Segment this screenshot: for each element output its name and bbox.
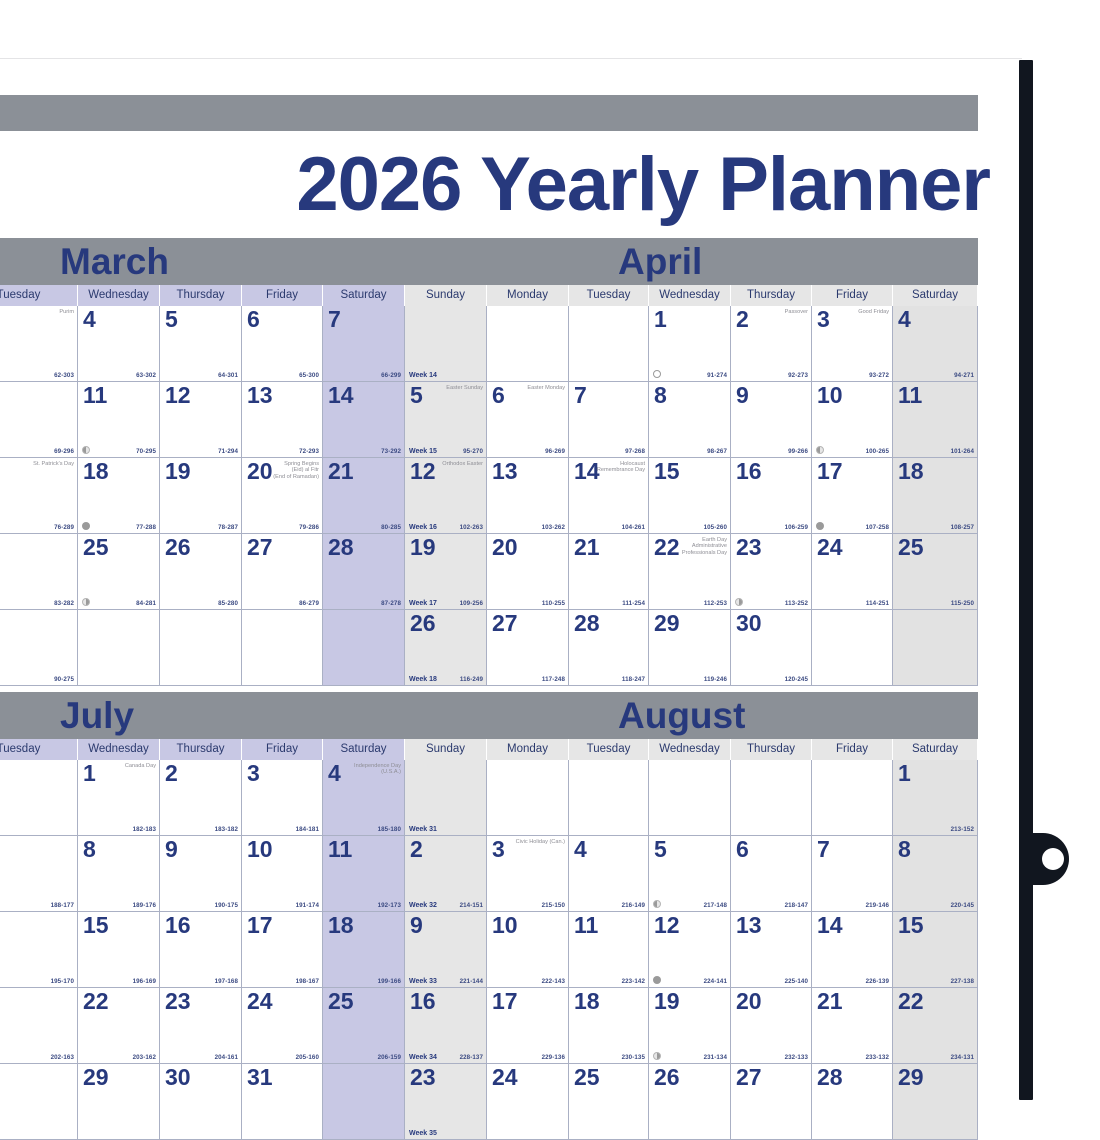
day-of-year-code: 80-285 (381, 524, 401, 531)
day-number: 6 (247, 307, 260, 332)
day-cell[interactable]: 13103-262 (487, 458, 569, 534)
week-number-label: Week 31 (409, 826, 437, 833)
weekday-header-monday: Monday (487, 739, 569, 760)
day-number: 6 (736, 837, 749, 862)
weekday-header-saturday: Saturday (323, 739, 405, 760)
day-cell[interactable]: 29 (78, 1064, 160, 1140)
day-of-year-code: 188-177 (51, 902, 74, 909)
day-number: 20 (736, 989, 762, 1014)
day-number: 23 (410, 1065, 436, 1090)
day-of-year-code: 219-146 (866, 902, 889, 909)
day-cell[interactable]: 23204-161 (160, 988, 242, 1064)
day-cell[interactable]: 898-267 (649, 382, 731, 458)
day-cell[interactable]: 2Passover92-273 (731, 306, 812, 382)
day-cell[interactable]: 1978-287 (160, 458, 242, 534)
day-cell[interactable]: 10100-265 (812, 382, 893, 458)
day-cell[interactable]: 28 (812, 1064, 893, 1140)
weekday-header-saturday: Saturday (893, 285, 978, 306)
moon-phase-first-icon (653, 1052, 661, 1060)
weekday-header-wednesday: Wednesday (649, 285, 731, 306)
day-cell[interactable]: 28 (0, 1064, 78, 1140)
day-of-year-code: 226-139 (866, 978, 889, 985)
day-cell[interactable]: 20232-133 (731, 988, 812, 1064)
holiday-label: Purim (59, 309, 74, 315)
day-cell[interactable]: 16228-137Week 34 (405, 988, 487, 1064)
day-number: 20 (492, 535, 518, 560)
day-cell[interactable]: 3Purim62-303 (0, 306, 78, 382)
day-cell[interactable]: 15227-138 (893, 912, 978, 988)
day-cell[interactable]: 2584-281 (78, 534, 160, 610)
weekday-header-sunday: Sunday (405, 739, 487, 760)
day-cell[interactable]: 494-271 (893, 306, 978, 382)
day-cell[interactable]: 9221-144Week 33 (405, 912, 487, 988)
moon-phase-full-icon (653, 370, 661, 378)
day-number: 7 (574, 383, 587, 408)
day-cell[interactable]: 21111-254 (569, 534, 649, 610)
day-number: 9 (165, 837, 178, 862)
empty-day-cell (0, 760, 78, 836)
day-cell[interactable]: 18230-135 (569, 988, 649, 1064)
day-of-year-code: 189-176 (133, 902, 156, 909)
day-number: 30 (165, 1065, 191, 1090)
day-number: 17 (247, 913, 273, 938)
empty-day-cell (242, 610, 323, 686)
day-of-year-code: 108-257 (951, 524, 974, 531)
month-band: JulyAugust (0, 692, 978, 739)
day-number: 26 (410, 611, 436, 636)
day-cell[interactable]: 30 (160, 1064, 242, 1140)
day-of-year-code: 72-293 (299, 448, 319, 455)
day-cell[interactable]: 19231-134 (649, 988, 731, 1064)
day-number: 20 (247, 459, 273, 484)
day-cell[interactable]: 20Spring Begins (Eid) al Fitr (End of Ra… (242, 458, 323, 534)
day-number: 26 (165, 535, 191, 560)
day-number: 7 (328, 307, 341, 332)
holiday-label: Easter Monday (527, 385, 565, 391)
day-of-year-code: 202-163 (51, 1054, 74, 1061)
empty-day-cell: Week 14 (405, 306, 487, 382)
week-number-label: Week 33 (409, 978, 437, 985)
day-cell[interactable]: 2685-280 (160, 534, 242, 610)
day-cell[interactable]: 7219-146 (812, 836, 893, 912)
day-of-year-code: 117-248 (542, 676, 565, 683)
day-number: 5 (410, 383, 423, 408)
day-number: 27 (247, 535, 273, 560)
day-number: 21 (328, 459, 354, 484)
day-number: 3 (492, 837, 505, 862)
day-of-year-code: 103-262 (542, 524, 565, 531)
day-number: 11 (83, 383, 107, 408)
day-of-year-code: 69-296 (54, 448, 74, 455)
day-number: 16 (165, 913, 191, 938)
day-cell[interactable]: 1069-296 (0, 382, 78, 458)
empty-day-cell (487, 306, 569, 382)
day-cell[interactable]: 22234-131 (893, 988, 978, 1064)
day-of-year-code: 114-251 (866, 600, 889, 607)
day-number: 16 (736, 459, 762, 484)
day-number: 27 (492, 611, 518, 636)
day-number: 21 (817, 989, 843, 1014)
empty-day-cell (731, 760, 812, 836)
day-cell[interactable]: 16106-259 (731, 458, 812, 534)
day-cell[interactable]: 1372-293 (242, 382, 323, 458)
day-number: 22 (654, 535, 680, 560)
day-number: 9 (736, 383, 749, 408)
day-number: 23 (165, 989, 191, 1014)
day-cell[interactable]: 564-301 (160, 306, 242, 382)
day-of-year-code: 223-142 (622, 978, 645, 985)
day-cell[interactable]: 25206-159 (323, 988, 405, 1064)
day-cell[interactable]: 999-266 (731, 382, 812, 458)
day-cell[interactable]: 29119-246 (649, 610, 731, 686)
day-cell[interactable]: 2483-282 (0, 534, 78, 610)
day-of-year-code: 106-259 (785, 524, 808, 531)
day-cell[interactable]: 12224-141 (649, 912, 731, 988)
day-number: 13 (492, 459, 518, 484)
day-number: 8 (83, 837, 96, 862)
calendar-grid: 1Canada Day182-1832183-1823184-1814Indep… (0, 760, 978, 1140)
day-cell[interactable]: 6Easter Monday96-269 (487, 382, 569, 458)
day-of-year-code: 204-161 (215, 1054, 238, 1061)
day-number: 18 (83, 459, 109, 484)
day-cell[interactable]: 766-299 (323, 306, 405, 382)
day-of-year-code: 222-143 (542, 978, 565, 985)
weekday-header-thursday: Thursday (731, 285, 812, 306)
day-of-year-code: 70-295 (136, 448, 156, 455)
day-of-year-code: 185-180 (378, 826, 401, 833)
day-number: 25 (328, 989, 354, 1014)
day-number: 25 (83, 535, 109, 560)
day-of-year-code: 84-281 (136, 600, 156, 607)
day-cell[interactable]: 25 (569, 1064, 649, 1140)
day-number: 16 (410, 989, 436, 1014)
day-cell[interactable]: 14Holocaust Remembrance Day104-261 (569, 458, 649, 534)
day-cell[interactable]: 15196-169 (78, 912, 160, 988)
day-cell[interactable]: 15105-260 (649, 458, 731, 534)
moon-phase-last-icon (653, 900, 661, 908)
holiday-label: Holocaust Remembrance Day (597, 461, 645, 474)
day-number: 28 (574, 611, 600, 636)
day-of-year-code: 71-294 (218, 448, 238, 455)
day-of-year-code: 76-289 (54, 524, 74, 531)
day-of-year-code: 216-149 (622, 902, 645, 909)
day-cell[interactable]: 18199-166 (323, 912, 405, 988)
day-cell[interactable]: 10222-143 (487, 912, 569, 988)
day-cell[interactable]: 1473-292 (323, 382, 405, 458)
day-cell[interactable]: 2214-151Week 32 (405, 836, 487, 912)
day-cell[interactable]: 21233-132 (812, 988, 893, 1064)
day-cell[interactable]: 17St. Patrick's Day76-289 (0, 458, 78, 534)
day-of-year-code: 96-269 (545, 448, 565, 455)
day-cell[interactable]: 9190-175 (160, 836, 242, 912)
day-of-year-code: 115-250 (951, 600, 974, 607)
day-cell[interactable]: 14195-170 (0, 912, 78, 988)
day-of-year-code: 192-173 (378, 902, 401, 909)
empty-day-cell (893, 610, 978, 686)
day-number: 27 (736, 1065, 762, 1090)
day-number: 18 (328, 913, 354, 938)
day-cell[interactable]: 14226-139 (812, 912, 893, 988)
day-number: 28 (328, 535, 354, 560)
day-number: 2 (165, 761, 178, 786)
moon-phase-first-icon (82, 598, 90, 606)
holiday-label: Spring Begins (Eid) al Fitr (End of Rama… (273, 461, 319, 480)
day-cell[interactable]: 18108-257 (893, 458, 978, 534)
day-cell[interactable]: 22Earth Day Administrative Professionals… (649, 534, 731, 610)
moon-phase-new-icon (816, 522, 824, 530)
day-cell[interactable]: 1213-152 (893, 760, 978, 836)
day-cell[interactable]: 3190-275 (0, 610, 78, 686)
day-cell[interactable]: 5217-148 (649, 836, 731, 912)
week-number-label: Week 34 (409, 1054, 437, 1061)
day-number: 10 (247, 837, 273, 862)
day-of-year-code: 233-132 (866, 1054, 889, 1061)
day-cell[interactable]: 8189-176 (78, 836, 160, 912)
day-of-year-code: 90-275 (54, 676, 74, 683)
day-of-year-code: 91-274 (707, 372, 727, 379)
day-cell[interactable]: 24 (487, 1064, 569, 1140)
month-band: MarchApril (0, 238, 978, 285)
day-of-year-code: 93-272 (869, 372, 889, 379)
day-of-year-code: 190-175 (215, 902, 238, 909)
day-cell[interactable]: 665-300 (242, 306, 323, 382)
day-cell[interactable]: 21202-163 (0, 988, 78, 1064)
moon-phase-last-icon (82, 446, 90, 454)
day-of-year-code: 215-150 (542, 902, 565, 909)
day-number: 10 (817, 383, 843, 408)
weekday-header-friday: Friday (812, 739, 893, 760)
day-cell[interactable]: 1Canada Day182-183 (78, 760, 160, 836)
day-of-year-code: 73-292 (381, 448, 401, 455)
day-cell[interactable]: 1271-294 (160, 382, 242, 458)
day-cell[interactable]: 5Easter Sunday95-270Week 15 (405, 382, 487, 458)
day-cell[interactable]: 1170-295 (78, 382, 160, 458)
day-cell[interactable]: 2786-279 (242, 534, 323, 610)
week-number-label: Week 14 (409, 372, 437, 379)
day-cell[interactable]: 3Good Friday93-272 (812, 306, 893, 382)
empty-day-cell (649, 760, 731, 836)
day-of-year-code: 213-152 (951, 826, 974, 833)
day-number: 22 (898, 989, 924, 1014)
day-cell[interactable]: 12Orthodox Easter102-263Week 16 (405, 458, 487, 534)
day-cell[interactable]: 7188-177 (0, 836, 78, 912)
day-number: 25 (898, 535, 924, 560)
week-number-label: Week 16 (409, 524, 437, 531)
day-cell[interactable]: 17198-167 (242, 912, 323, 988)
day-of-year-code: 191-174 (296, 902, 319, 909)
day-of-year-code: 65-300 (299, 372, 319, 379)
day-number: 24 (492, 1065, 518, 1090)
holiday-label: Orthodox Easter (442, 461, 483, 467)
day-of-year-code: 105-260 (704, 524, 727, 531)
month-name-right: August (618, 692, 745, 739)
day-cell[interactable]: 23Week 35 (405, 1064, 487, 1140)
day-cell[interactable]: 1877-288 (78, 458, 160, 534)
day-number: 18 (574, 989, 600, 1014)
moon-phase-new-icon (82, 522, 90, 530)
day-of-year-code: 214-151 (460, 902, 483, 909)
day-cell[interactable]: 4216-149 (569, 836, 649, 912)
day-of-year-code: 228-137 (460, 1054, 483, 1061)
day-cell[interactable]: 29 (893, 1064, 978, 1140)
day-number: 15 (898, 913, 924, 938)
holiday-label: St. Patrick's Day (33, 461, 74, 467)
weekday-header-wednesday: Wednesday (649, 739, 731, 760)
day-number: 5 (654, 837, 667, 862)
day-of-year-code: 100-265 (866, 448, 889, 455)
day-cell[interactable]: 11192-173 (323, 836, 405, 912)
day-cell[interactable]: 10191-174 (242, 836, 323, 912)
day-cell[interactable]: 191-274 (649, 306, 731, 382)
weekday-header-thursday: Thursday (731, 739, 812, 760)
day-cell[interactable]: 24114-251 (812, 534, 893, 610)
day-cell[interactable]: 28118-247 (569, 610, 649, 686)
day-number: 8 (898, 837, 911, 862)
day-cell[interactable]: 11223-142 (569, 912, 649, 988)
day-number: 15 (654, 459, 680, 484)
holiday-label: Earth Day Administrative Professionals D… (682, 537, 727, 556)
empty-day-cell (812, 760, 893, 836)
day-number: 2 (736, 307, 749, 332)
day-of-year-code: 199-166 (378, 978, 401, 985)
day-number: 19 (654, 989, 680, 1014)
day-cell[interactable]: 2180-285 (323, 458, 405, 534)
day-of-year-code: 218-147 (785, 902, 808, 909)
day-number: 12 (410, 459, 436, 484)
day-number: 29 (898, 1065, 924, 1090)
binding-hole-icon (1042, 848, 1064, 870)
day-of-year-code: 118-247 (622, 676, 645, 683)
holiday-label: Easter Sunday (446, 385, 483, 391)
day-of-year-code: 85-280 (218, 600, 238, 607)
day-of-year-code: 92-273 (788, 372, 808, 379)
day-cell[interactable]: 23113-252 (731, 534, 812, 610)
day-cell[interactable]: 11101-264 (893, 382, 978, 458)
holiday-label: Canada Day (125, 763, 156, 769)
weekday-header-tuesday: Tuesday (569, 285, 649, 306)
week-number-label: Week 18 (409, 676, 437, 683)
moon-phase-first-icon (735, 598, 743, 606)
day-number: 29 (654, 611, 680, 636)
binding-strip (1019, 60, 1033, 1100)
weekday-header-sunday: Sunday (405, 285, 487, 306)
day-cell[interactable]: 13225-140 (731, 912, 812, 988)
weekday-header-thursday: Thursday (160, 285, 242, 306)
day-number: 25 (574, 1065, 600, 1090)
day-of-year-code: 196-169 (133, 978, 156, 985)
day-of-year-code: 78-287 (218, 524, 238, 531)
day-of-year-code: 224-141 (704, 978, 727, 985)
calendar-grid: 3Purim62-303463-302564-301665-300766-299… (0, 306, 978, 686)
empty-day-cell (569, 306, 649, 382)
day-number: 30 (736, 611, 762, 636)
day-number: 24 (247, 989, 273, 1014)
day-of-year-code: 94-271 (954, 372, 974, 379)
week-number-label: Week 35 (409, 1130, 437, 1137)
day-cell[interactable]: 31 (242, 1064, 323, 1140)
day-of-year-code: 109-256 (460, 600, 483, 607)
day-cell[interactable]: 2183-182 (160, 760, 242, 836)
day-cell[interactable]: 24205-160 (242, 988, 323, 1064)
day-number: 14 (574, 459, 600, 484)
day-cell[interactable]: 8220-145 (893, 836, 978, 912)
empty-day-cell (323, 610, 405, 686)
day-number: 11 (328, 837, 352, 862)
day-of-year-code: 217-148 (704, 902, 727, 909)
day-cell[interactable]: 30120-245 (731, 610, 812, 686)
day-cell[interactable]: 26 (649, 1064, 731, 1140)
day-of-year-code: 97-268 (625, 448, 645, 455)
day-number: 19 (165, 459, 191, 484)
day-cell[interactable]: 26116-249Week 18 (405, 610, 487, 686)
day-number: 3 (817, 307, 830, 332)
weekday-header-row: TuesdayWednesdayThursdayFridaySaturdaySu… (0, 739, 978, 760)
day-number: 7 (817, 837, 830, 862)
day-cell[interactable]: 27117-248 (487, 610, 569, 686)
day-cell[interactable]: 797-268 (569, 382, 649, 458)
day-cell[interactable]: 16197-168 (160, 912, 242, 988)
day-cell[interactable]: 4Independence Day (U.S.A.)185-180 (323, 760, 405, 836)
day-of-year-code: 104-261 (622, 524, 645, 531)
week-number-label: Week 15 (409, 448, 437, 455)
day-number: 17 (817, 459, 843, 484)
day-cell[interactable]: 17229-136 (487, 988, 569, 1064)
day-number: 15 (83, 913, 109, 938)
day-cell[interactable]: 463-302 (78, 306, 160, 382)
weekday-header-friday: Friday (812, 285, 893, 306)
day-number: 10 (492, 913, 518, 938)
day-number: 1 (83, 761, 96, 786)
day-cell[interactable]: 25115-250 (893, 534, 978, 610)
day-of-year-code: 119-246 (704, 676, 727, 683)
day-number: 1 (898, 761, 911, 786)
weekday-header-friday: Friday (242, 285, 323, 306)
day-cell[interactable]: 17107-258 (812, 458, 893, 534)
day-number: 18 (898, 459, 924, 484)
day-cell[interactable]: 22203-162 (78, 988, 160, 1064)
day-number: 28 (817, 1065, 843, 1090)
holiday-label: Good Friday (858, 309, 889, 315)
day-of-year-code: 107-258 (866, 524, 889, 531)
day-of-year-code: 184-181 (296, 826, 319, 833)
day-cell[interactable]: 27 (731, 1064, 812, 1140)
day-number: 19 (410, 535, 436, 560)
day-cell[interactable]: 3Civic Holiday (Can.)215-150 (487, 836, 569, 912)
day-number: 21 (574, 535, 600, 560)
day-number: 23 (736, 535, 762, 560)
planner-page: 2026 Yearly Planner MarchAprilTuesdayWed… (0, 0, 1100, 1100)
day-number: 26 (654, 1065, 680, 1090)
weekday-header-saturday: Saturday (323, 285, 405, 306)
day-cell[interactable]: 2887-278 (323, 534, 405, 610)
day-number: 14 (328, 383, 354, 408)
day-cell[interactable]: 20110-255 (487, 534, 569, 610)
day-of-year-code: 102-263 (460, 524, 483, 531)
day-of-year-code: 225-140 (785, 978, 808, 985)
day-number: 1 (654, 307, 667, 332)
day-of-year-code: 98-267 (707, 448, 727, 455)
day-number: 4 (898, 307, 911, 332)
weekday-header-wednesday: Wednesday (78, 285, 160, 306)
day-of-year-code: 64-301 (218, 372, 238, 379)
day-number: 8 (654, 383, 667, 408)
day-cell[interactable]: 3184-181 (242, 760, 323, 836)
day-cell[interactable]: 6218-147 (731, 836, 812, 912)
day-of-year-code: 110-255 (542, 600, 565, 607)
day-cell[interactable]: 19109-256Week 17 (405, 534, 487, 610)
month-name-right: April (618, 238, 702, 285)
holiday-label: Passover (785, 309, 808, 315)
